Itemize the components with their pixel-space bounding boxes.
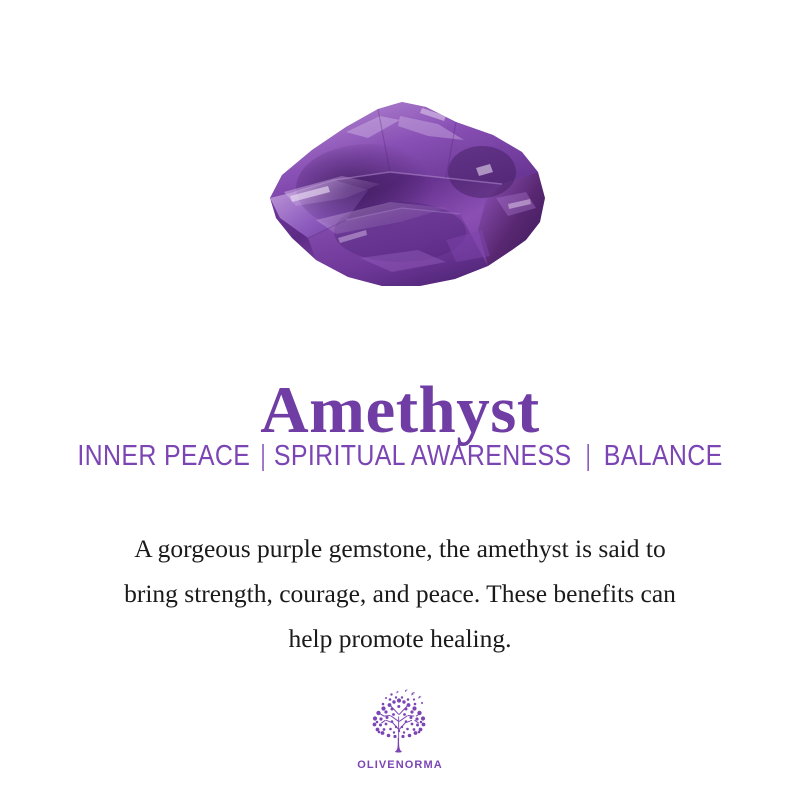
brand-wordmark: OLIVENORMA: [0, 759, 800, 771]
description-line-2: bring strength, courage, and peace. Thes…: [50, 571, 750, 616]
brand-logo: OLIVENORMA: [0, 686, 800, 771]
keyword-spiritual-awareness: SPIRITUAL AWARENESS: [274, 440, 572, 472]
description-line-3: help promote healing.: [50, 616, 750, 661]
amethyst-crystal-image: [250, 80, 555, 295]
description-paragraph: A gorgeous purple gemstone, the amethyst…: [50, 526, 750, 661]
amethyst-crystal-illustration: [250, 80, 555, 295]
description-line-1: A gorgeous purple gemstone, the amethyst…: [50, 526, 750, 571]
amethyst-info-card: Amethyst INNER PEACE|SPIRITUAL AWARENESS…: [0, 0, 800, 800]
keyword-inner-peace: INNER PEACE: [77, 440, 250, 472]
tree-of-life-icon: [361, 686, 439, 756]
page-title: Amethyst: [0, 377, 800, 444]
keyword-strip: INNER PEACE|SPIRITUAL AWARENESS|BALANCE: [56, 441, 744, 473]
keyword-separator-1: |: [261, 441, 266, 473]
keyword-balance: BALANCE: [604, 440, 723, 472]
keyword-separator-2: |: [586, 441, 591, 473]
